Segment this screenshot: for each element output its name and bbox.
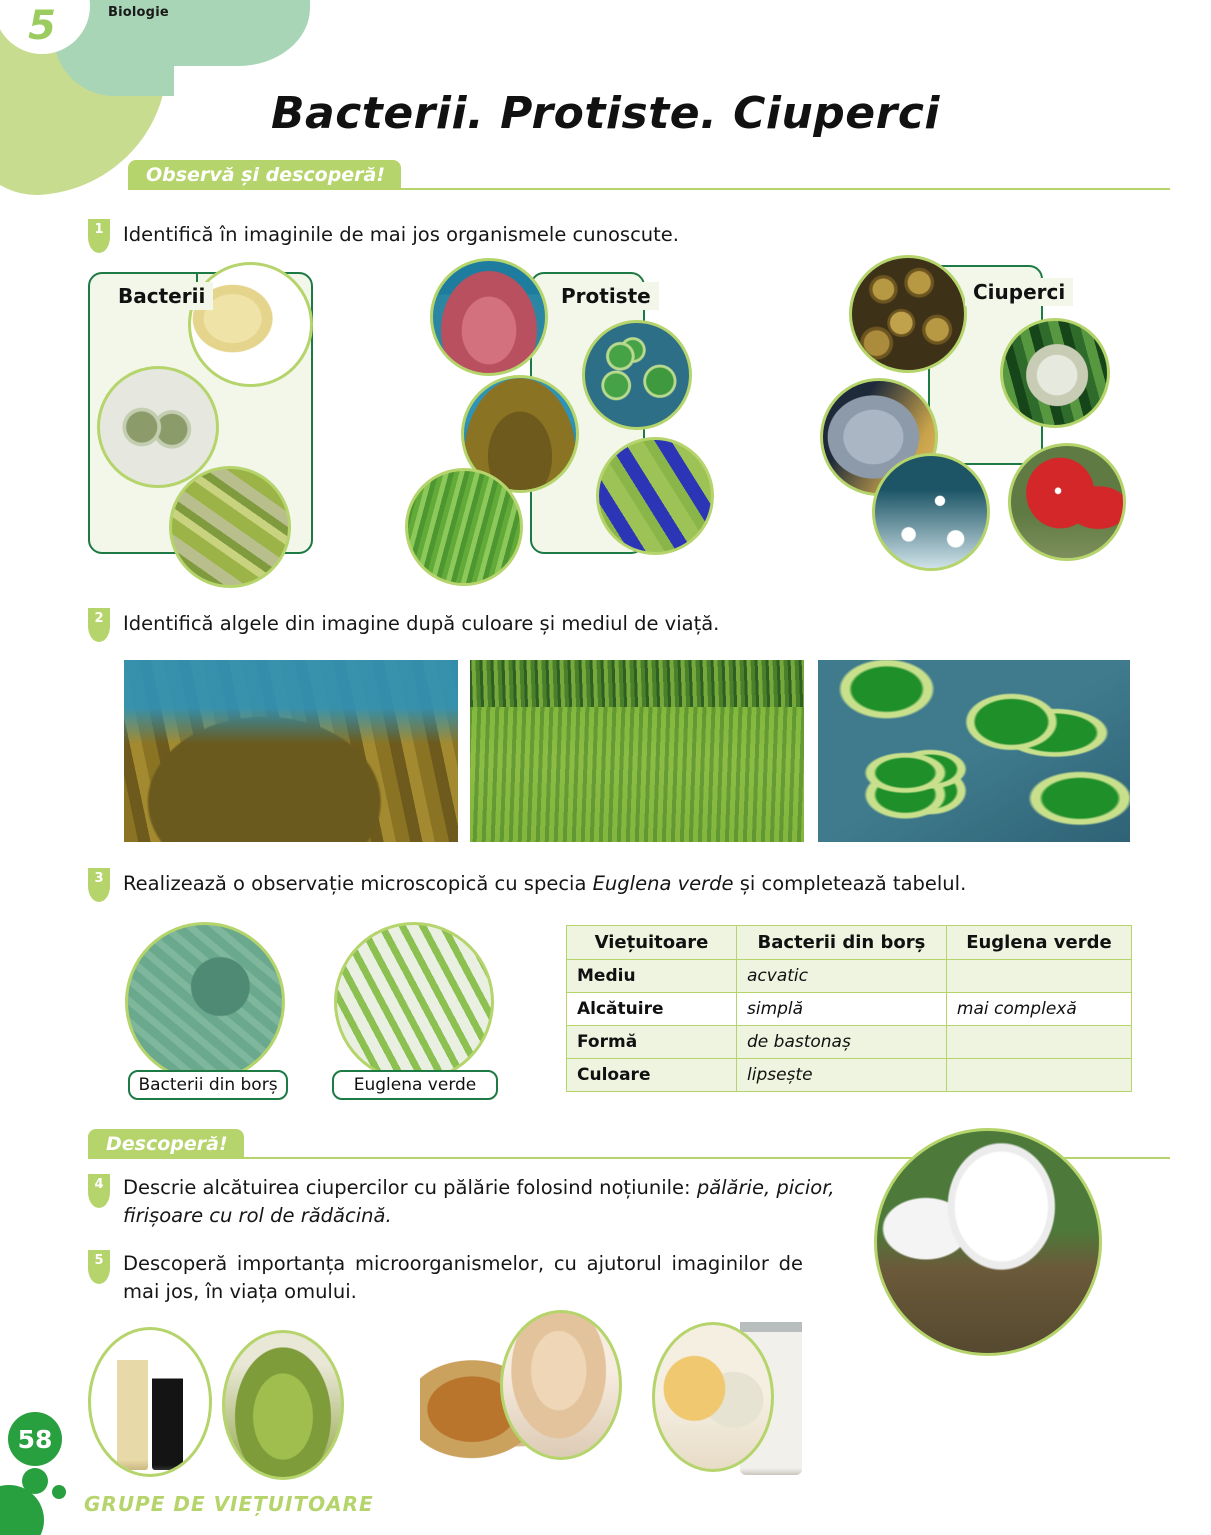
exercise-text-3: Realizează o observație microscopică cu … [123, 870, 973, 898]
exercise-number-5: 5 [88, 1250, 110, 1284]
table-cell-euglena[interactable] [946, 1026, 1131, 1059]
green-algae-cells-photo [582, 320, 692, 430]
table-cell-euglena[interactable]: mai complexă [946, 993, 1131, 1026]
red-algae-photo [430, 258, 548, 376]
exercise-text-5: Descoperă importanța microorganismelor, … [123, 1250, 803, 1305]
white-mushrooms-photo [874, 1128, 1102, 1356]
table-cell-bacterii[interactable]: de bastonaș [737, 1026, 947, 1059]
table-header-1: Bacterii din borș [737, 926, 947, 960]
white-mold-photo [872, 453, 990, 571]
subject-label: Biologie [108, 5, 169, 20]
page-title: Bacterii. Protiste. Ciuperci [0, 88, 1211, 139]
table-row-label: Alcătuire [567, 993, 737, 1026]
table-cell-euglena[interactable] [946, 960, 1131, 993]
table-row: Culoare lipsește [567, 1059, 1132, 1092]
exercise-text-2: Identifică algele din imagine după culoa… [123, 610, 923, 638]
table-row: Alcătuire simplă mai complexă [567, 993, 1132, 1026]
green-pond-algae-photo [470, 660, 804, 842]
table-cell-bacterii[interactable]: lipsește [737, 1059, 947, 1092]
comparison-table: Viețuitoare Bacterii din borș Euglena ve… [566, 925, 1132, 1092]
corn-smut-photo [1000, 318, 1110, 428]
exercise-number-4: 4 [88, 1174, 110, 1208]
table-header-2: Euglena verde [946, 926, 1131, 960]
table-cell-bacterii[interactable]: simplă [737, 993, 947, 1026]
table-row-label: Formă [567, 1026, 737, 1059]
bacteria-microscope-photo [125, 922, 285, 1082]
exercise-text-1: Identifică în imaginile de mai jos organ… [123, 221, 883, 249]
table-header-row: Viețuitoare Bacterii din borș Euglena ve… [567, 926, 1132, 960]
textbook-page: 5 Biologie Bacterii. Protiste. Ciuperci … [0, 0, 1211, 1535]
euglena-microscope-photo [334, 922, 494, 1082]
table-row-label: Mediu [567, 960, 737, 993]
amanita-muscaria-photo [1008, 443, 1126, 561]
green-filament-algae-photo [405, 468, 523, 586]
footer-chapter-title: GRUPE DE VIEȚUITOARE [84, 1492, 374, 1516]
table-row: Mediu acvatic [567, 960, 1132, 993]
group-label-ciuperci: Ciuperci [965, 278, 1073, 306]
cheese-and-milk-photo [652, 1322, 774, 1472]
section-banner-label: Observă și descoperă! [128, 160, 401, 190]
table-header-0: Viețuitoare [567, 926, 737, 960]
caption-euglena-verde: Euglena verde [332, 1070, 498, 1100]
exercise-number-2: 2 [88, 608, 110, 642]
chapter-number: 5 [28, 6, 56, 54]
wine-bottles-photo [88, 1327, 212, 1477]
yeast-cells-photo [849, 255, 967, 373]
exercise-text-4: Descrie alcătuirea ciupercilor cu pălări… [123, 1174, 853, 1229]
bubble-decoration [52, 1485, 66, 1499]
section-banner-observa: Observă și descoperă! [128, 160, 1170, 190]
table-row: Formă de bastonaș [567, 1026, 1132, 1059]
group-label-protiste: Protiste [553, 282, 659, 310]
section-banner-label: Descoperă! [88, 1129, 244, 1159]
page-number-badge: 58 [8, 1412, 62, 1466]
exercise-number-3: 3 [88, 868, 110, 902]
table-cell-euglena[interactable] [946, 1059, 1131, 1092]
exercise-number-1: 1 [88, 219, 110, 253]
group-label-bacterii: Bacterii [110, 282, 213, 310]
caption-bacterii-din-bors: Bacterii din borș [128, 1070, 288, 1100]
table-row-label: Culoare [567, 1059, 737, 1092]
table-cell-bacterii[interactable]: acvatic [737, 960, 947, 993]
subject-band-decoration [60, 0, 310, 66]
green-algae-microscope-photo [818, 660, 1130, 842]
rod-bacteria-photo [169, 466, 291, 588]
pickled-cucumbers-photo [222, 1330, 344, 1480]
bread-and-dough-photo [500, 1310, 622, 1460]
spirogyra-photo [596, 437, 714, 555]
brown-algae-underwater-photo [124, 660, 458, 842]
